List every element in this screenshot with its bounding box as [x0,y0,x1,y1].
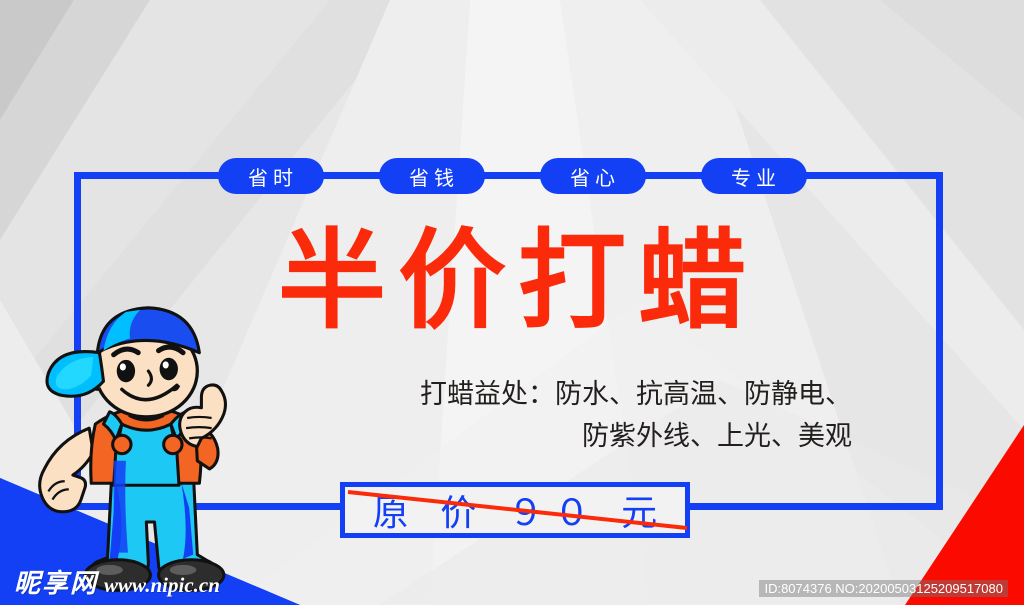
watermark-site-url: www.nipic.cn [104,572,220,598]
mascot-overall-button-right [164,435,182,453]
image-id-strip: ID:8074376 NO:20200503125209517080 [759,580,1008,597]
mascot-eye-right [160,358,178,380]
mascot-overall-button-left [113,435,131,453]
watermark: 昵享网 www.nipic.cn [14,564,220,598]
poster-canvas: 省时 省钱 省心 专业 半价打蜡 打蜡益处：防水、抗高温、防静电、 防紫外线、上… [0,0,1024,605]
foreground-artwork [0,0,1024,605]
mascot-eye-left [117,360,135,382]
watermark-site-name: 昵享网 [14,570,98,598]
